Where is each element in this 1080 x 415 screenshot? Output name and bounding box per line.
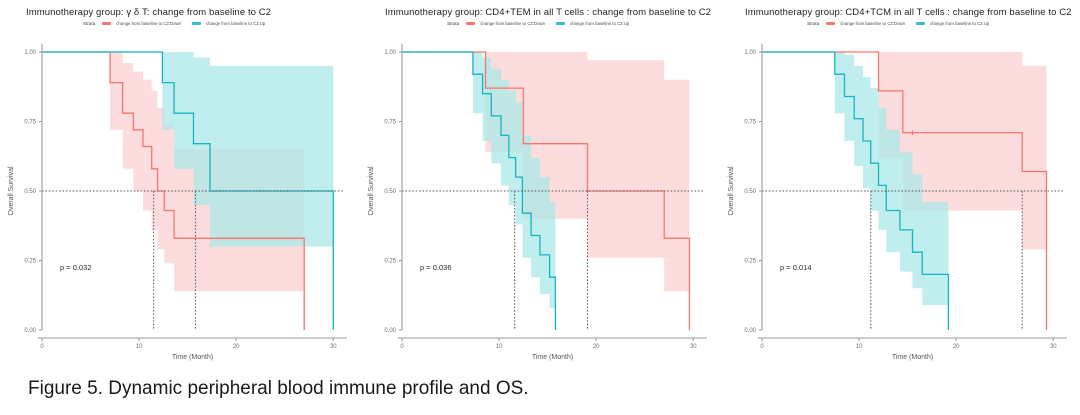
x-tick-label: 10 (496, 344, 503, 350)
y-axis-title: Overall Survival (728, 166, 735, 215)
legend-label-up: change from baseline to C2:Up (570, 21, 629, 26)
panel-2-legend: Strata change from baseline to C2:Down c… (447, 21, 711, 26)
y-tick-label: 0.50 (24, 189, 36, 195)
y-tick-label: 0.75 (24, 120, 36, 126)
panel-1-header: Immunotherapy group: γ δ T: change from … (26, 7, 271, 26)
y-tick-label: 1.00 (744, 50, 756, 56)
legend-key-down (826, 22, 835, 25)
x-axis-title: Time (Month) (172, 354, 213, 361)
legend-label-down: change from baseline to C2:Down (480, 21, 545, 26)
y-tick-label: 0.00 (384, 328, 396, 334)
panel-1-plot: 0.000.250.500.751.000102030Time (Month)O… (0, 0, 360, 372)
y-tick-label: 0.50 (744, 189, 756, 195)
panel-3-plot: 0.000.250.500.751.000102030Time (Month)O… (720, 0, 1080, 372)
p-value-annotation: p = 0.036 (420, 263, 452, 272)
legend-strata-label: Strata (447, 21, 459, 26)
legend-strata-label: Strata (807, 21, 819, 26)
panel-1-title: Immunotherapy group: γ δ T: change from … (26, 7, 271, 18)
y-tick-label: 0.00 (24, 328, 36, 334)
x-tick-label: 30 (1050, 344, 1057, 350)
panel-2-title: Immunotherapy group: CD4+TEM in all T ce… (385, 7, 711, 18)
x-axis-title: Time (Month) (532, 354, 573, 361)
panel-3-legend: Strata change from baseline to C2:Down c… (807, 21, 1072, 26)
legend-strata-label: Strata (83, 21, 95, 26)
legend-label-up: change from baseline to C2:Up (206, 21, 265, 26)
x-tick-label: 0 (760, 344, 764, 350)
km-panel-3: Immunotherapy group: CD4+TCM in all T ce… (720, 0, 1080, 372)
x-tick-label: 10 (856, 344, 863, 350)
y-tick-label: 0.25 (24, 259, 36, 265)
x-tick-label: 0 (400, 344, 404, 350)
figure-caption: Figure 5. Dynamic peripheral blood immun… (28, 378, 529, 400)
x-tick-label: 0 (40, 344, 44, 350)
x-axis-title: Time (Month) (892, 354, 933, 361)
legend-label-down: change from baseline to C2:Down (116, 21, 181, 26)
panel-1-legend: Strata change from baseline to C2:Down c… (83, 21, 271, 26)
legend-key-down (466, 22, 475, 25)
x-tick-label: 30 (330, 344, 337, 350)
y-tick-label: 0.75 (744, 120, 756, 126)
x-tick-label: 10 (136, 344, 143, 350)
legend-label-down: change from baseline to C2:Down (840, 21, 905, 26)
y-tick-label: 0.00 (744, 328, 756, 334)
legend-label-up: change from baseline to C2:Up (930, 21, 989, 26)
y-tick-label: 0.25 (744, 259, 756, 265)
km-panel-2: Immunotherapy group: CD4+TEM in all T ce… (360, 0, 720, 372)
y-axis-title: Overall Survival (8, 166, 15, 215)
panel-2-plot: 0.000.250.500.751.000102030Time (Month)O… (360, 0, 720, 372)
figure-root: Immunotherapy group: γ δ T: change from … (0, 0, 1080, 415)
y-tick-label: 0.25 (384, 259, 396, 265)
y-tick-label: 1.00 (24, 50, 36, 56)
panel-3-title: Immunotherapy group: CD4+TCM in all T ce… (745, 7, 1072, 18)
y-tick-label: 0.50 (384, 189, 396, 195)
y-tick-label: 1.00 (384, 50, 396, 56)
y-tick-label: 0.75 (384, 120, 396, 126)
legend-key-up (556, 22, 565, 25)
legend-key-down (102, 22, 111, 25)
y-axis-title: Overall Survival (368, 166, 375, 215)
panel-3-header: Immunotherapy group: CD4+TCM in all T ce… (745, 7, 1072, 26)
legend-key-up (192, 22, 201, 25)
x-tick-label: 20 (233, 344, 240, 350)
km-panel-1: Immunotherapy group: γ δ T: change from … (0, 0, 360, 372)
x-tick-label: 20 (593, 344, 600, 350)
p-value-annotation: p = 0.032 (60, 263, 92, 272)
p-value-annotation: p = 0.014 (780, 263, 812, 272)
panel-2-header: Immunotherapy group: CD4+TEM in all T ce… (385, 7, 711, 26)
legend-key-up (916, 22, 925, 25)
x-tick-label: 20 (953, 344, 960, 350)
x-tick-label: 30 (690, 344, 697, 350)
